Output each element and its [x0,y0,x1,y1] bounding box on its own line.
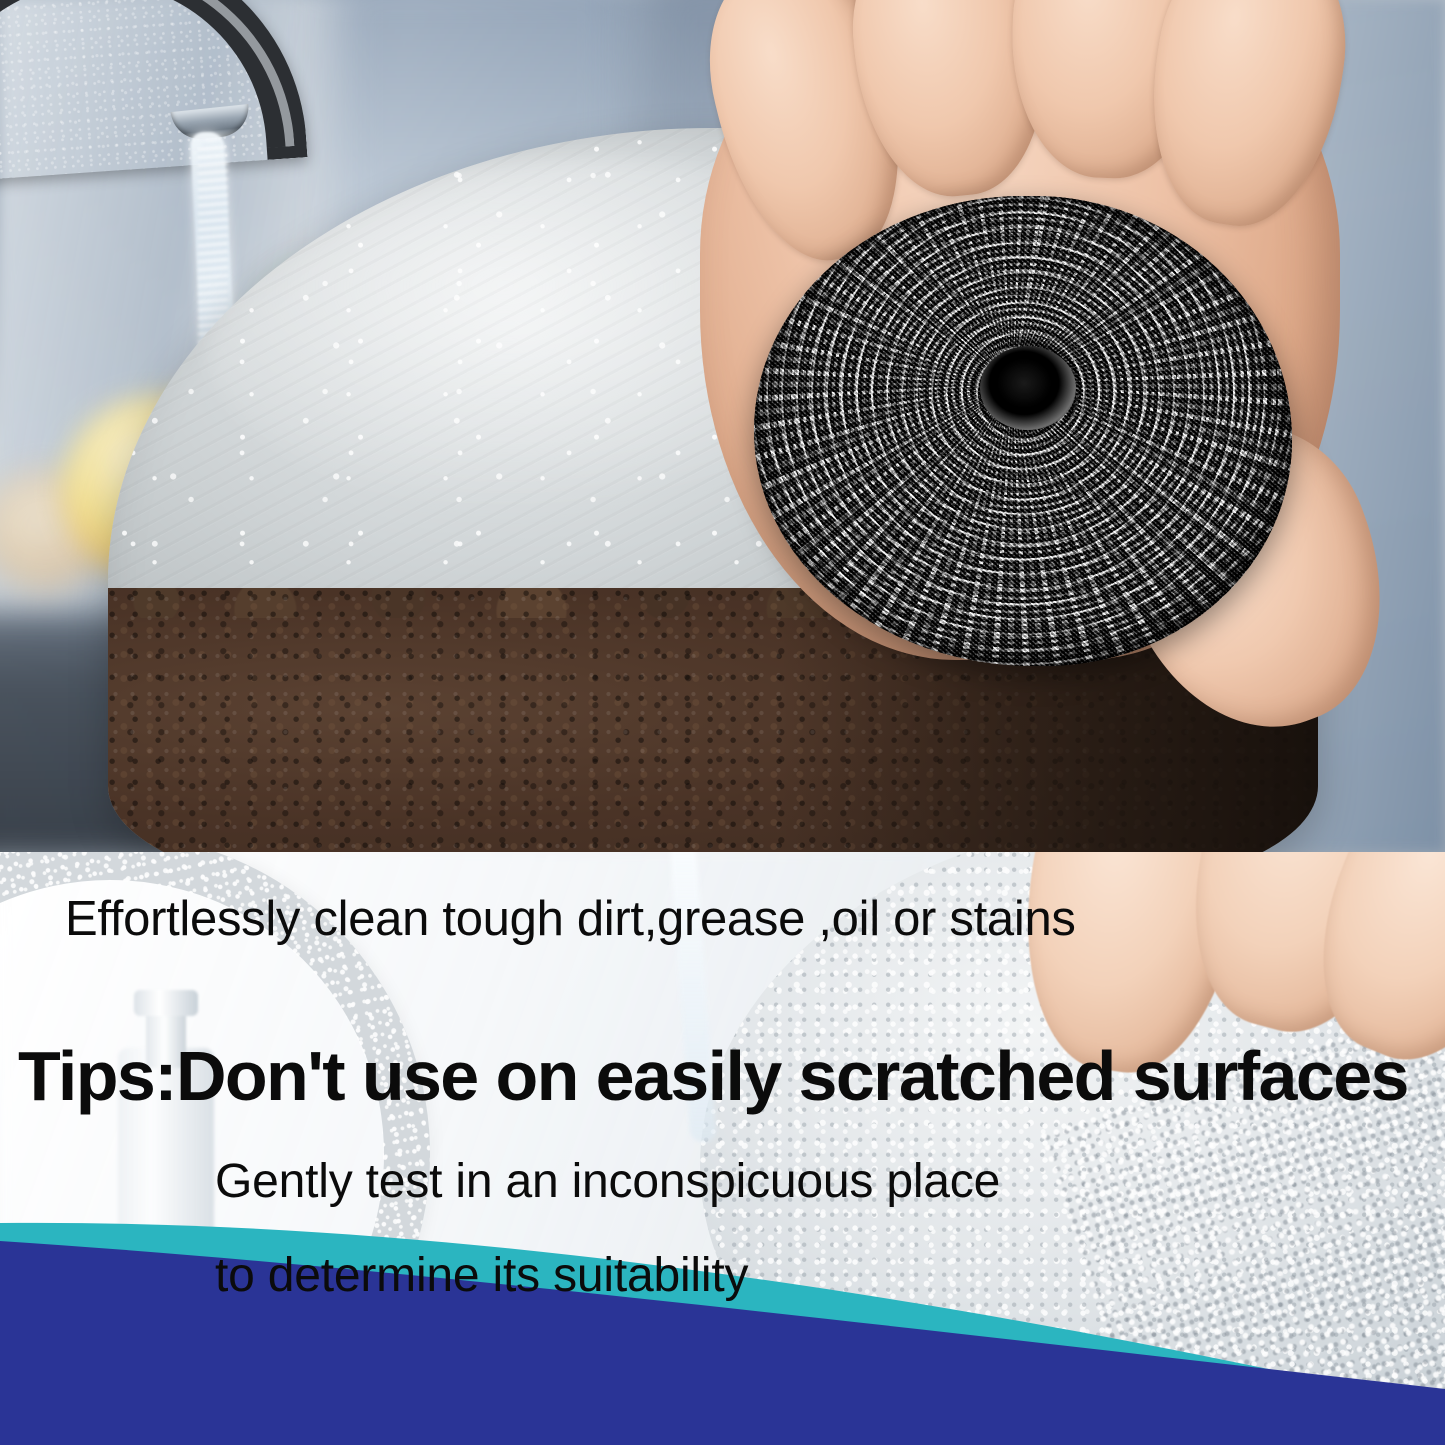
top-product-photo [0,0,1445,852]
scrubber-wire-texture [754,196,1292,666]
advice-line-2: to determine its suitability [215,1248,748,1303]
steel-wool-scrubber [754,196,1292,666]
advice-line-1: Gently test in an inconspicuous place [215,1154,1000,1209]
tips-headline: Tips:Don't use on easily scratched surfa… [18,1036,1408,1116]
benefit-headline: Effortlessly clean tough dirt,grease ,oi… [65,891,1076,947]
scrubber-center-core [980,346,1076,430]
product-infographic-poster: Effortlessly clean tough dirt,grease ,oi… [0,0,1445,1445]
soap-dispenser-pump [134,990,198,1016]
decorative-wave-graphic [0,1175,1445,1445]
